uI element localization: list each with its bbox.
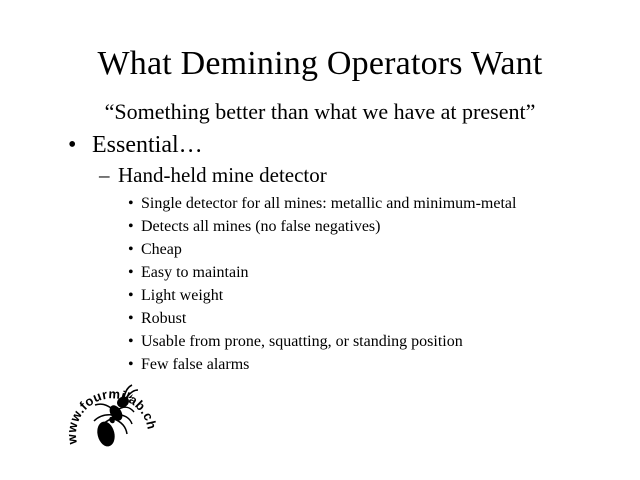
- slide-canvas: What Demining Operators Want “Something …: [0, 0, 640, 480]
- slide-subtitle: “Something better than what we have at p…: [0, 99, 640, 125]
- outline-level2-item: – Hand-held mine detector: [0, 162, 640, 188]
- list-item-label: Usable from prone, squatting, or standin…: [141, 330, 580, 353]
- page-title: What Demining Operators Want: [0, 44, 640, 84]
- bullet-glyph-icon: •: [128, 307, 134, 330]
- bullet-glyph-icon: •: [128, 192, 134, 215]
- list-item: • Light weight: [0, 284, 640, 307]
- list-item-label: Light weight: [141, 284, 580, 307]
- list-item-label: Easy to maintain: [141, 261, 580, 284]
- list-item-label: Detects all mines (no false negatives): [141, 215, 580, 238]
- outline-body: • Essential… – Hand-held mine detector •…: [0, 131, 640, 376]
- list-item-label: Single detector for all mines: metallic …: [141, 192, 580, 215]
- list-item: • Cheap: [0, 238, 640, 261]
- bullet-glyph-icon: •: [128, 215, 134, 238]
- outline-level1-item: • Essential…: [0, 131, 640, 160]
- outline-level3-list: • Single detector for all mines: metalli…: [0, 192, 640, 376]
- list-item: • Detects all mines (no false negatives): [0, 215, 640, 238]
- list-item: • Easy to maintain: [0, 261, 640, 284]
- bullet-glyph-icon: •: [128, 261, 134, 284]
- bullet-glyph-icon: •: [128, 284, 134, 307]
- outline-level2-label: Hand-held mine detector: [118, 163, 327, 187]
- list-item: • Single detector for all mines: metalli…: [0, 192, 640, 215]
- list-item-label: Few false alarms: [141, 353, 580, 376]
- bullet-glyph-icon: •: [68, 131, 76, 160]
- list-item-label: Robust: [141, 307, 580, 330]
- bullet-glyph-icon: •: [128, 238, 134, 261]
- fourmilab-ant-logo: www.fourmilab.ch: [62, 370, 162, 470]
- list-item: • Usable from prone, squatting, or stand…: [0, 330, 640, 353]
- list-item-label: Cheap: [141, 238, 580, 261]
- bullet-glyph-icon: •: [128, 330, 134, 353]
- outline-level1-label: Essential…: [92, 132, 203, 158]
- dash-glyph-icon: –: [99, 162, 110, 188]
- list-item: • Robust: [0, 307, 640, 330]
